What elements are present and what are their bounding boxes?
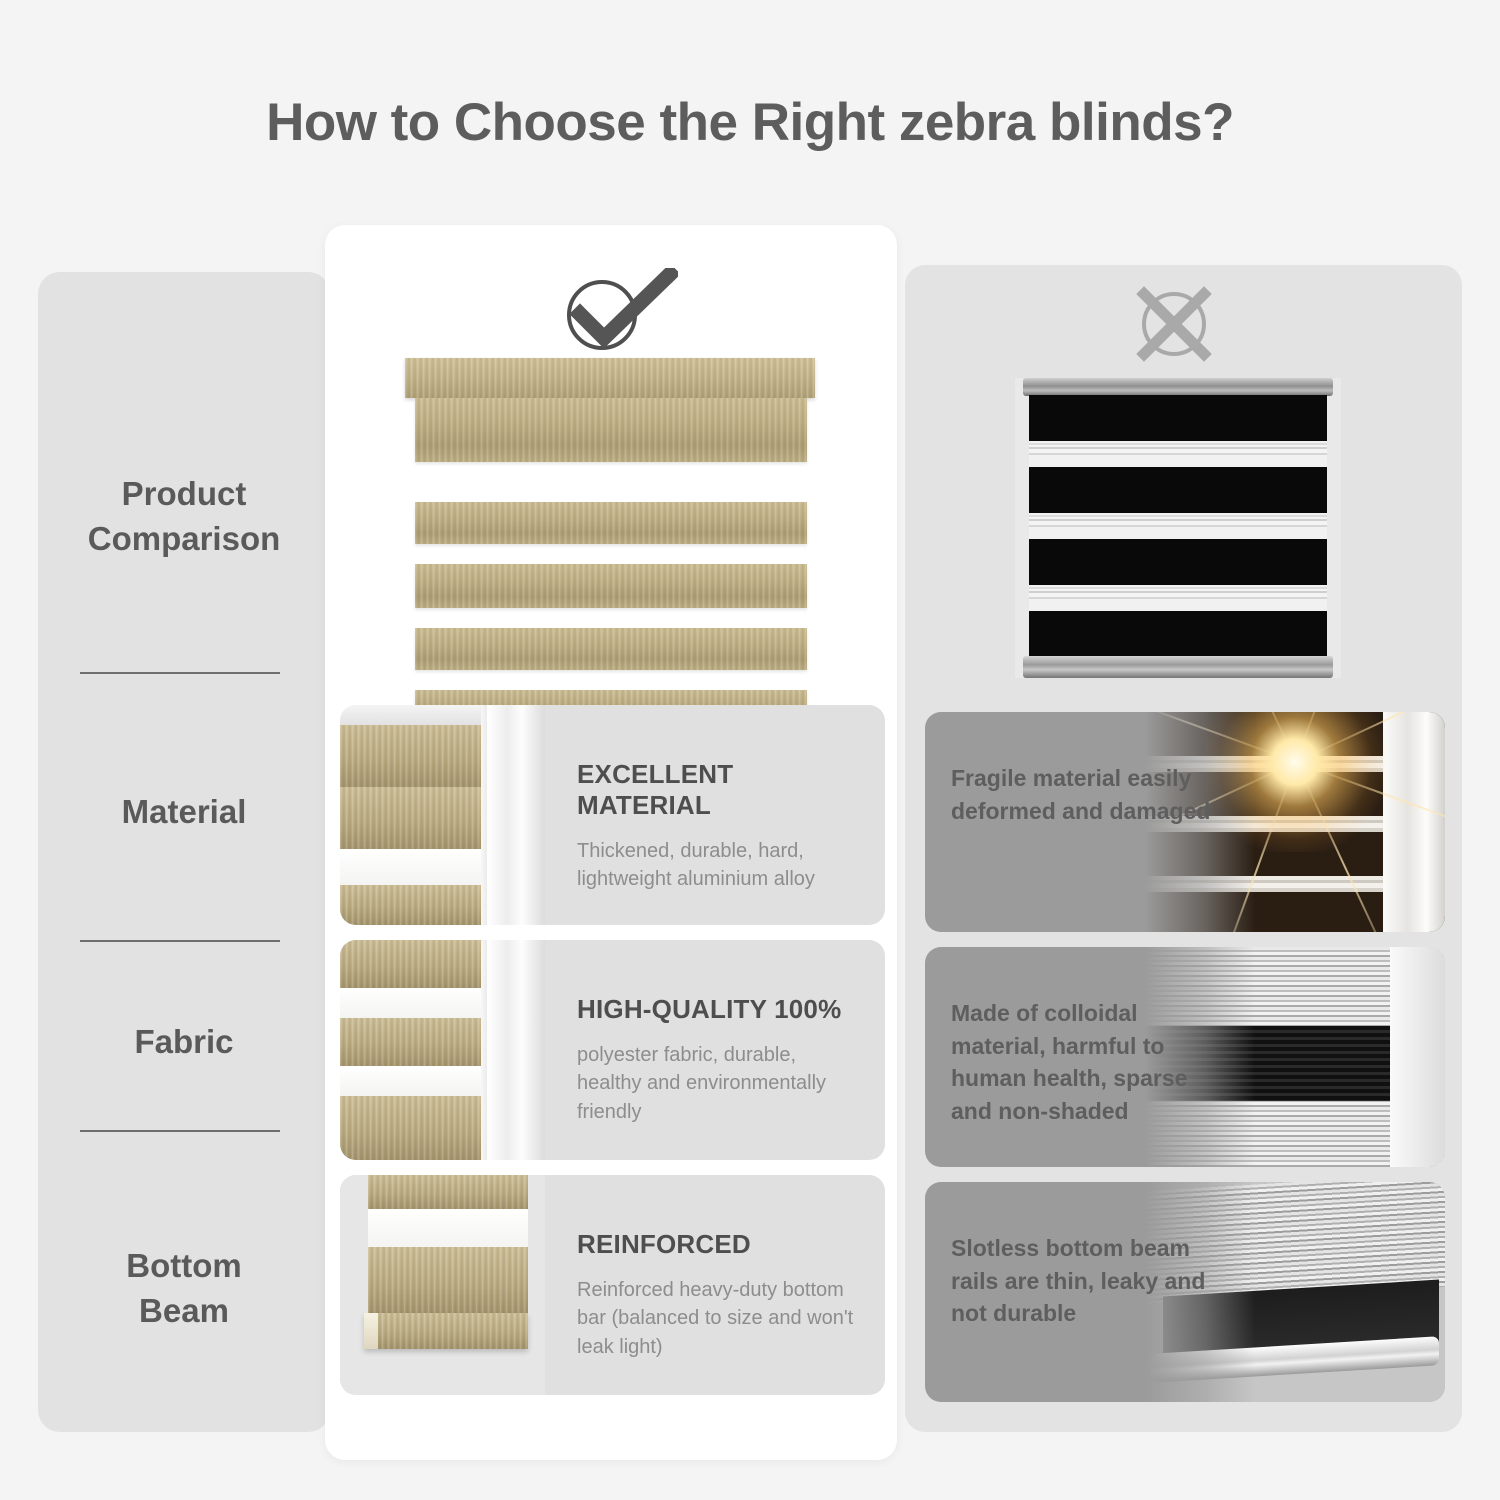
row-label-line1: Fabric [134, 1020, 233, 1065]
bad-feature-card-material: Fragile material easily deformed and dam… [925, 712, 1445, 932]
blind-slat [415, 628, 807, 670]
page-title: How to Choose the Right zebra blinds? [0, 92, 1500, 153]
blind-slat [415, 398, 807, 462]
blind-bottom-rail [1023, 656, 1333, 678]
good-feature-text-material: EXCELLENT MATERIAL Thickened, durable, h… [545, 705, 885, 925]
blind-slat [415, 564, 807, 608]
feature-body: Reinforced heavy-duty bottom bar (balanc… [577, 1276, 863, 1361]
row-label-rail: Product Comparison Material Fabric Botto… [38, 272, 330, 1432]
feature-body: Thickened, durable, hard, lightweight al… [577, 837, 863, 894]
window-frame-edge [1390, 947, 1445, 1167]
blind-top-rail [1023, 378, 1333, 396]
good-feature-text-bottom-beam: REINFORCED Reinforced heavy-duty bottom … [545, 1175, 885, 1395]
good-feature-image-material [340, 705, 545, 925]
row-label-line2: Comparison [88, 517, 281, 562]
blind-band [368, 1247, 528, 1313]
hero-image-beige-zebra-blind [405, 358, 815, 698]
bad-feature-card-bottom-beam: Slotless bottom beam rails are thin, lea… [925, 1182, 1445, 1402]
window-photo-crop [340, 705, 545, 925]
window-photo-crop [340, 940, 545, 1160]
blind-fabric-body [1029, 395, 1327, 657]
blind-bottom-bar [364, 1313, 528, 1349]
comparison-infographic: How to Choose the Right zebra blinds? Pr… [0, 0, 1500, 1500]
row-label-line1: Bottom [126, 1244, 241, 1289]
bad-feature-text-bottom-beam: Slotless bottom beam rails are thin, lea… [951, 1232, 1231, 1330]
good-feature-image-fabric [340, 940, 545, 1160]
bad-feature-card-fabric: Made of colloidal material, harmful to h… [925, 947, 1445, 1167]
row-label-line2: Beam [126, 1289, 241, 1334]
bad-feature-text-fabric: Made of colloidal material, harmful to h… [951, 997, 1231, 1128]
feature-heading: EXCELLENT MATERIAL [577, 759, 863, 821]
bottom-bar-endcap [364, 1313, 378, 1349]
light-gap-band [368, 1209, 528, 1247]
window-frame-outer [487, 705, 545, 925]
blind-band [368, 1175, 528, 1209]
window-photo-crop [340, 1175, 545, 1395]
blind-slat [415, 502, 807, 544]
row-label-fabric: Fabric [38, 1012, 330, 1072]
row-label-bottom-beam: Bottom Beam [38, 1224, 330, 1354]
good-feature-card-material: EXCELLENT MATERIAL Thickened, durable, h… [340, 705, 885, 925]
check-circle-icon [548, 268, 678, 356]
feature-heading: HIGH-QUALITY 100% [577, 994, 863, 1025]
row-label-product-comparison: Product Comparison [38, 452, 330, 582]
good-feature-image-bottom-beam [340, 1175, 545, 1395]
row-label-line1: Product [88, 472, 281, 517]
hero-image-black-zebra-blind [1015, 378, 1341, 678]
good-feature-text-fabric: HIGH-QUALITY 100% polyester fabric, dura… [545, 940, 885, 1160]
cross-circle-icon [1122, 284, 1226, 364]
feature-body: polyester fabric, durable, healthy and e… [577, 1041, 863, 1126]
row-label-material: Material [38, 782, 330, 842]
good-feature-card-fabric: HIGH-QUALITY 100% polyester fabric, dura… [340, 940, 885, 1160]
feature-heading: REINFORCED [577, 1229, 863, 1260]
blind-headrail [405, 358, 815, 398]
row-divider-1 [80, 672, 280, 674]
window-frame-edge [1383, 712, 1445, 932]
window-frame-outer [487, 940, 545, 1160]
good-feature-card-bottom-beam: REINFORCED Reinforced heavy-duty bottom … [340, 1175, 885, 1395]
row-label-line1: Material [122, 790, 247, 835]
row-divider-2 [80, 940, 280, 942]
row-divider-3 [80, 1130, 280, 1132]
bad-feature-text-material: Fragile material easily deformed and dam… [951, 762, 1231, 827]
